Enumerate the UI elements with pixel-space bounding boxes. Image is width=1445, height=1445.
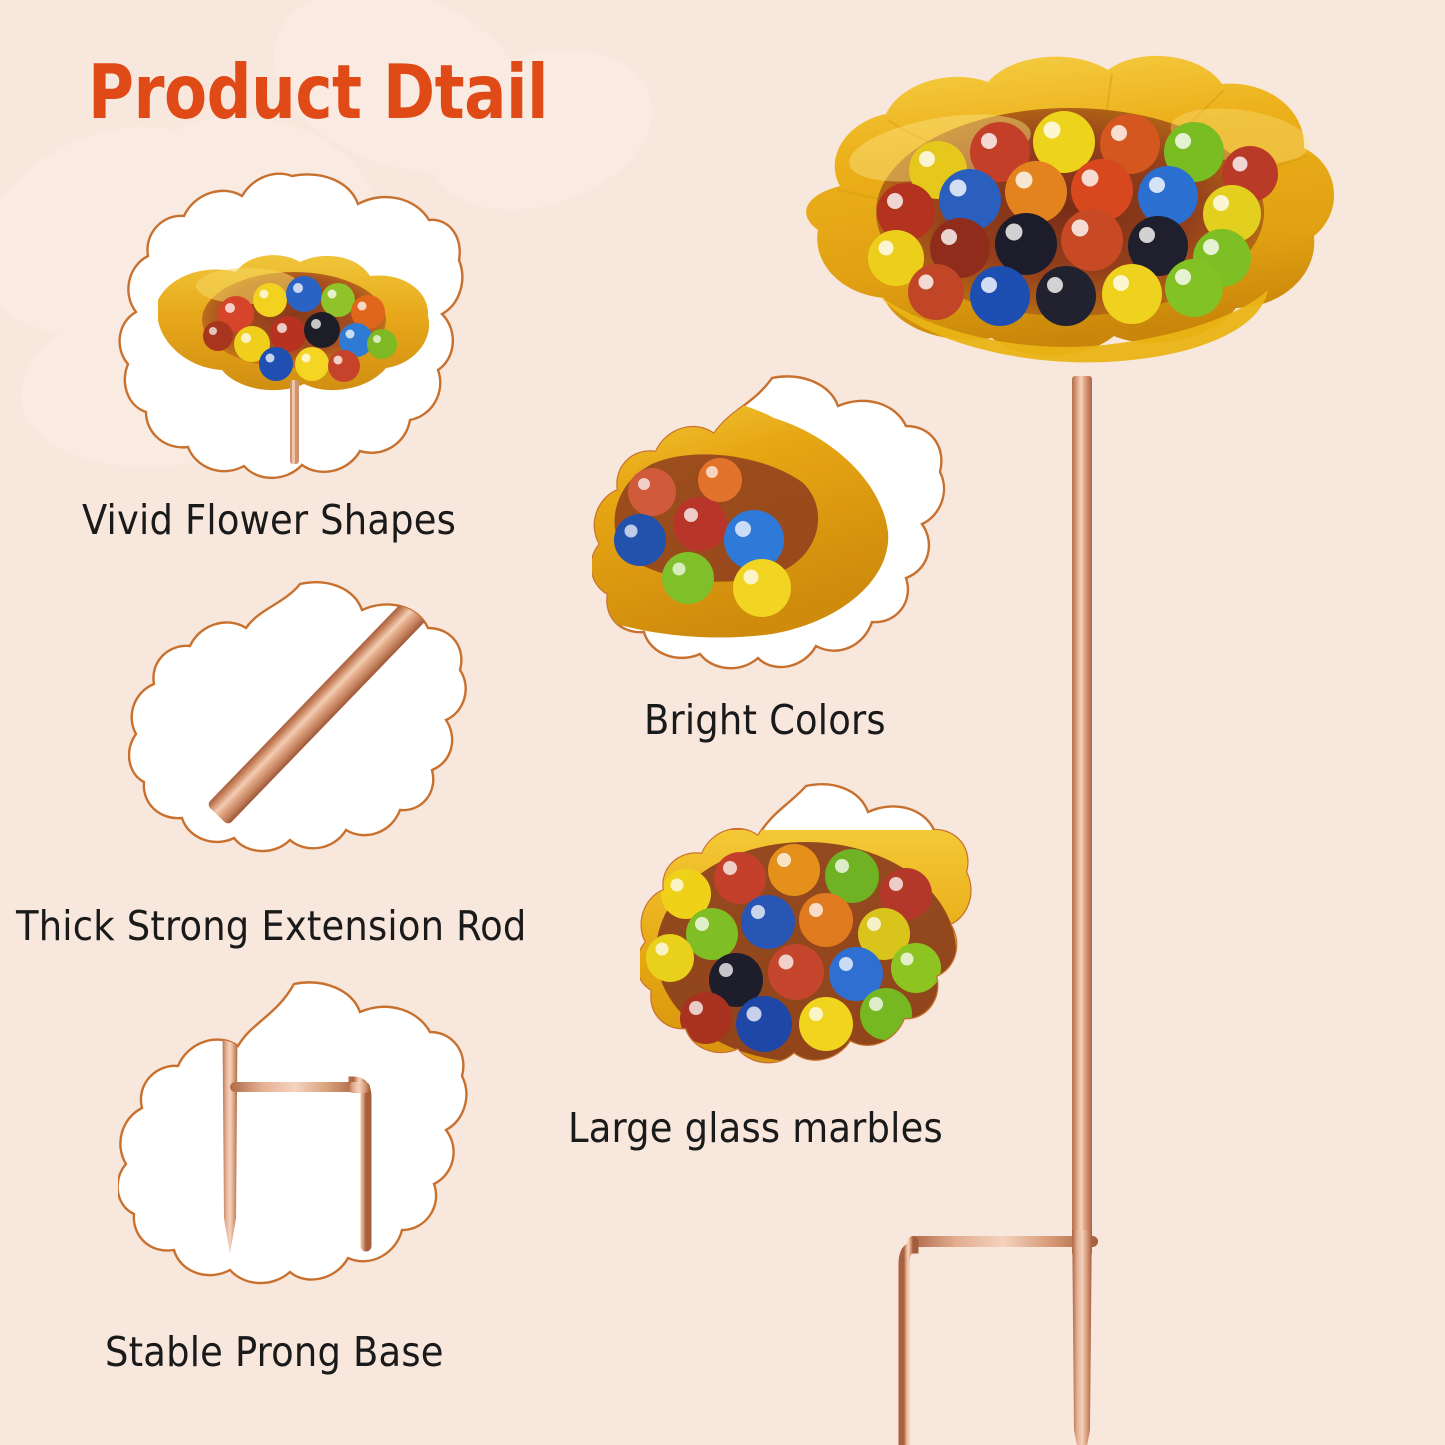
feature-card-marbles: Large glass marbles	[0, 0, 332, 300]
badge-prong-base	[118, 978, 470, 1300]
caption-vivid-flower-shapes: Vivid Flower Shapes	[82, 496, 456, 544]
product-detail-page: Product Dtail	[0, 0, 1445, 1445]
threaded-tip	[415, 578, 464, 610]
caption-extension-rod: Thick Strong Extension Rod	[16, 902, 526, 950]
glass-marbles-cluster	[868, 111, 1278, 326]
caption-prong-base: Stable Prong Base	[105, 1328, 444, 1376]
main-product-image	[720, 40, 1400, 1440]
flower-blob-outline-icon	[118, 978, 470, 1300]
copper-extension-rod	[1072, 376, 1092, 1256]
amber-flower-bowl	[720, 40, 1380, 400]
flower-blob-outline-icon	[128, 578, 472, 878]
prong-base	[890, 1230, 1210, 1445]
badge-extension-rod	[128, 578, 472, 878]
